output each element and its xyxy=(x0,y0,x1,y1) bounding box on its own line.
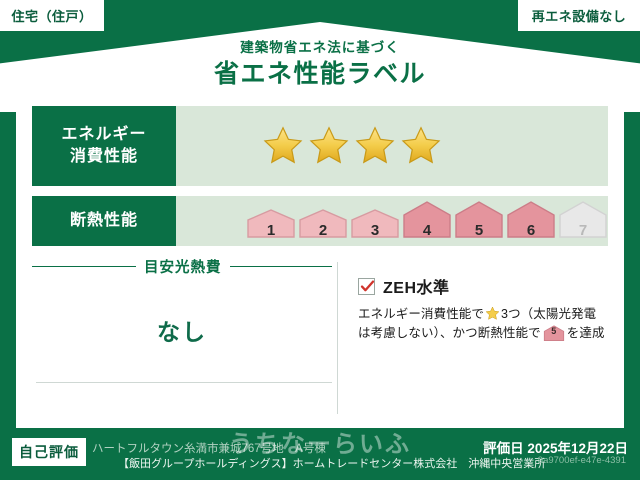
label-footer: 自己評価 ハートフルタウン糸満市兼城767号地 A号棟 【飯田グループホールディ… xyxy=(0,428,640,480)
energy-performance-row: エネルギー 消費性能 xyxy=(32,106,608,186)
house-icon xyxy=(402,200,452,238)
energy-performance-label: 住宅（住戸） 再エネ設備なし 建築物省エネ法に基づく 省エネ性能ラベル エネルギ… xyxy=(0,0,640,480)
evaluation-date-value: 2025年12月22日 xyxy=(527,441,628,456)
zeh-desc-house: 5 xyxy=(543,325,565,341)
insulation-level-7: 7 xyxy=(558,200,608,243)
house-icon xyxy=(558,200,608,238)
zeh-desc-part3: は考慮しない）、かつ断熱性能で xyxy=(358,326,541,340)
title-block: 建築物省エネ法に基づく 省エネ性能ラベル xyxy=(0,40,640,90)
zeh-header: ZEH水準 xyxy=(358,274,616,298)
house-icon xyxy=(506,200,556,238)
energy-label-line1: エネルギー xyxy=(61,124,146,146)
evaluation-id: 9a9700ef-e47e-4391 xyxy=(538,455,626,466)
page-title: 省エネ性能ラベル xyxy=(0,58,640,90)
insulation-level-4: 4 xyxy=(402,200,452,243)
zeh-checkbox[interactable] xyxy=(358,278,375,295)
insulation-performance-label: 断熱性能 xyxy=(32,196,176,246)
zeh-block: ZEH水準 エネルギー消費性能で3つ（太陽光発電は考慮しない）、かつ断熱性能で5… xyxy=(358,274,616,343)
evaluation-date-label: 評価日 xyxy=(483,441,524,456)
renewable-equipment-tag: 再エネ設備なし xyxy=(518,0,640,31)
section-divider xyxy=(337,262,338,414)
house-icon xyxy=(298,208,348,238)
star-icon xyxy=(354,125,396,167)
utility-cost-title: 目安光熱費 xyxy=(32,256,332,277)
evaluation-date: 評価日 2025年12月22日 xyxy=(483,437,628,457)
zeh-desc-part2: 3つ（太陽光発電 xyxy=(501,307,596,321)
label-card: エネルギー 消費性能 xyxy=(16,96,624,428)
utility-cost-underline xyxy=(36,382,332,383)
insulation-performance-body: 1 2 3 xyxy=(176,196,608,246)
insulation-level-3: 3 xyxy=(350,208,400,243)
house-icon xyxy=(246,208,296,238)
zeh-title: ZEH水準 xyxy=(383,274,450,298)
energy-label-line2: 消費性能 xyxy=(70,146,138,168)
star-icon xyxy=(400,125,442,167)
zeh-desc-part1: エネルギー消費性能で xyxy=(358,307,484,321)
company-name: 【飯田グループホールディングス】ホームトレードセンター株式会社 沖縄中央営業所 xyxy=(118,455,545,471)
insulation-level-6: 6 xyxy=(506,200,556,243)
housing-type-tag: 住宅（住戸） xyxy=(0,0,104,31)
star-icon xyxy=(262,125,304,167)
insulation-level-5: 5 xyxy=(454,200,504,243)
insulation-level-2: 2 xyxy=(298,208,348,243)
lower-section: 目安光熱費 なし ZEH水準 エネルギー消費性能で3つ（太陽光発電は考慮しない）… xyxy=(16,256,624,428)
label-subtitle: 建築物省エネ法に基づく xyxy=(0,40,640,56)
energy-performance-label: エネルギー 消費性能 xyxy=(32,106,176,186)
utility-cost-block: 目安光熱費 なし xyxy=(32,256,332,347)
utility-cost-value: なし xyxy=(32,313,332,347)
house-icon xyxy=(454,200,504,238)
self-evaluation-badge: 自己評価 xyxy=(12,438,86,466)
check-icon xyxy=(360,279,375,294)
house-icon xyxy=(350,208,400,238)
star-rating xyxy=(262,125,442,167)
insulation-level-1: 1 xyxy=(246,208,296,243)
insulation-performance-row: 断熱性能 1 2 xyxy=(32,196,608,246)
zeh-description: エネルギー消費性能で3つ（太陽光発電は考慮しない）、かつ断熱性能で5を達成 xyxy=(358,305,616,343)
zeh-desc-house-number: 5 xyxy=(543,322,565,341)
star-icon xyxy=(485,306,500,321)
insulation-level-scale: 1 2 3 xyxy=(246,200,608,243)
property-name: ハートフルタウン糸満市兼城767号地 A号棟 xyxy=(92,440,326,456)
zeh-desc-part4: を達成 xyxy=(567,326,605,340)
energy-performance-body xyxy=(176,106,608,186)
star-icon xyxy=(308,125,350,167)
